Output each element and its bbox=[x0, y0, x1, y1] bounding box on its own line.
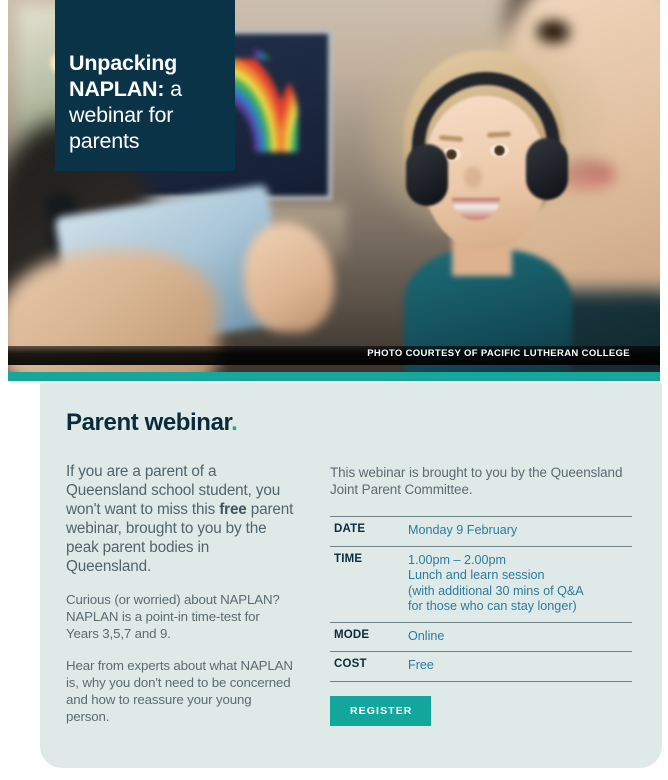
event-details-table: DATEMonday 9 FebruaryTIME1.00pm – 2.00pm… bbox=[330, 516, 632, 682]
organiser-note: This webinar is brought to you by the Qu… bbox=[330, 464, 632, 498]
teal-divider bbox=[8, 372, 660, 381]
detail-row: TIME1.00pm – 2.00pmLunch and learn sessi… bbox=[330, 546, 632, 622]
student-nose bbox=[464, 166, 482, 188]
detail-row: MODEOnline bbox=[330, 622, 632, 652]
detail-label: COST bbox=[330, 652, 408, 682]
hero-banner: Unpacking NAPLAN: a webinar for parents … bbox=[8, 0, 660, 372]
event-details-body: DATEMonday 9 FebruaryTIME1.00pm – 2.00pm… bbox=[330, 517, 632, 682]
detail-value: Free bbox=[408, 652, 632, 682]
detail-label: MODE bbox=[330, 622, 408, 652]
content-panel: Parent webinar. If you are a parent of a… bbox=[40, 383, 662, 768]
poster-page: Unpacking NAPLAN: a webinar for parents … bbox=[0, 0, 668, 780]
right-column: This webinar is brought to you by the Qu… bbox=[330, 462, 632, 726]
headphone-earcup bbox=[526, 138, 568, 200]
detail-value: Online bbox=[408, 622, 632, 652]
intro-paragraph: If you are a parent of a Queensland scho… bbox=[66, 462, 294, 576]
detail-row: COSTFree bbox=[330, 652, 632, 682]
detail-label: DATE bbox=[330, 517, 408, 547]
naplan-explainer-paragraph: Curious (or worried) about NAPLAN? NAPLA… bbox=[66, 592, 294, 642]
left-column: If you are a parent of a Queensland scho… bbox=[66, 462, 294, 726]
detail-label: TIME bbox=[330, 546, 408, 622]
photo-credit-bar: PHOTO COURTESY OF PACIFIC LUTHERAN COLLE… bbox=[8, 346, 660, 365]
detail-row: DATEMonday 9 February bbox=[330, 517, 632, 547]
section-heading: Parent webinar. bbox=[66, 409, 632, 437]
section-heading-text: Parent webinar bbox=[66, 409, 231, 436]
intro-paragraph-bold: free bbox=[219, 501, 246, 518]
two-column-layout: If you are a parent of a Queensland scho… bbox=[66, 462, 632, 726]
section-heading-dot: . bbox=[231, 409, 237, 436]
page-title-strong: Unpacking NAPLAN: bbox=[69, 51, 177, 101]
experts-paragraph: Hear from experts about what NAPLAN is, … bbox=[66, 658, 294, 725]
photo-credit-text: PHOTO COURTESY OF PACIFIC LUTHERAN COLLE… bbox=[367, 348, 630, 359]
hero-title-box: Unpacking NAPLAN: a webinar for parents bbox=[55, 0, 235, 171]
page-title: Unpacking NAPLAN: a webinar for parents bbox=[69, 50, 229, 154]
register-button[interactable]: REGISTER bbox=[330, 696, 431, 726]
detail-value: Monday 9 February bbox=[408, 517, 632, 547]
detail-value: 1.00pm – 2.00pmLunch and learn session(w… bbox=[408, 546, 632, 622]
headphone-earcup bbox=[406, 144, 448, 206]
student-with-headphones bbox=[386, 38, 586, 372]
